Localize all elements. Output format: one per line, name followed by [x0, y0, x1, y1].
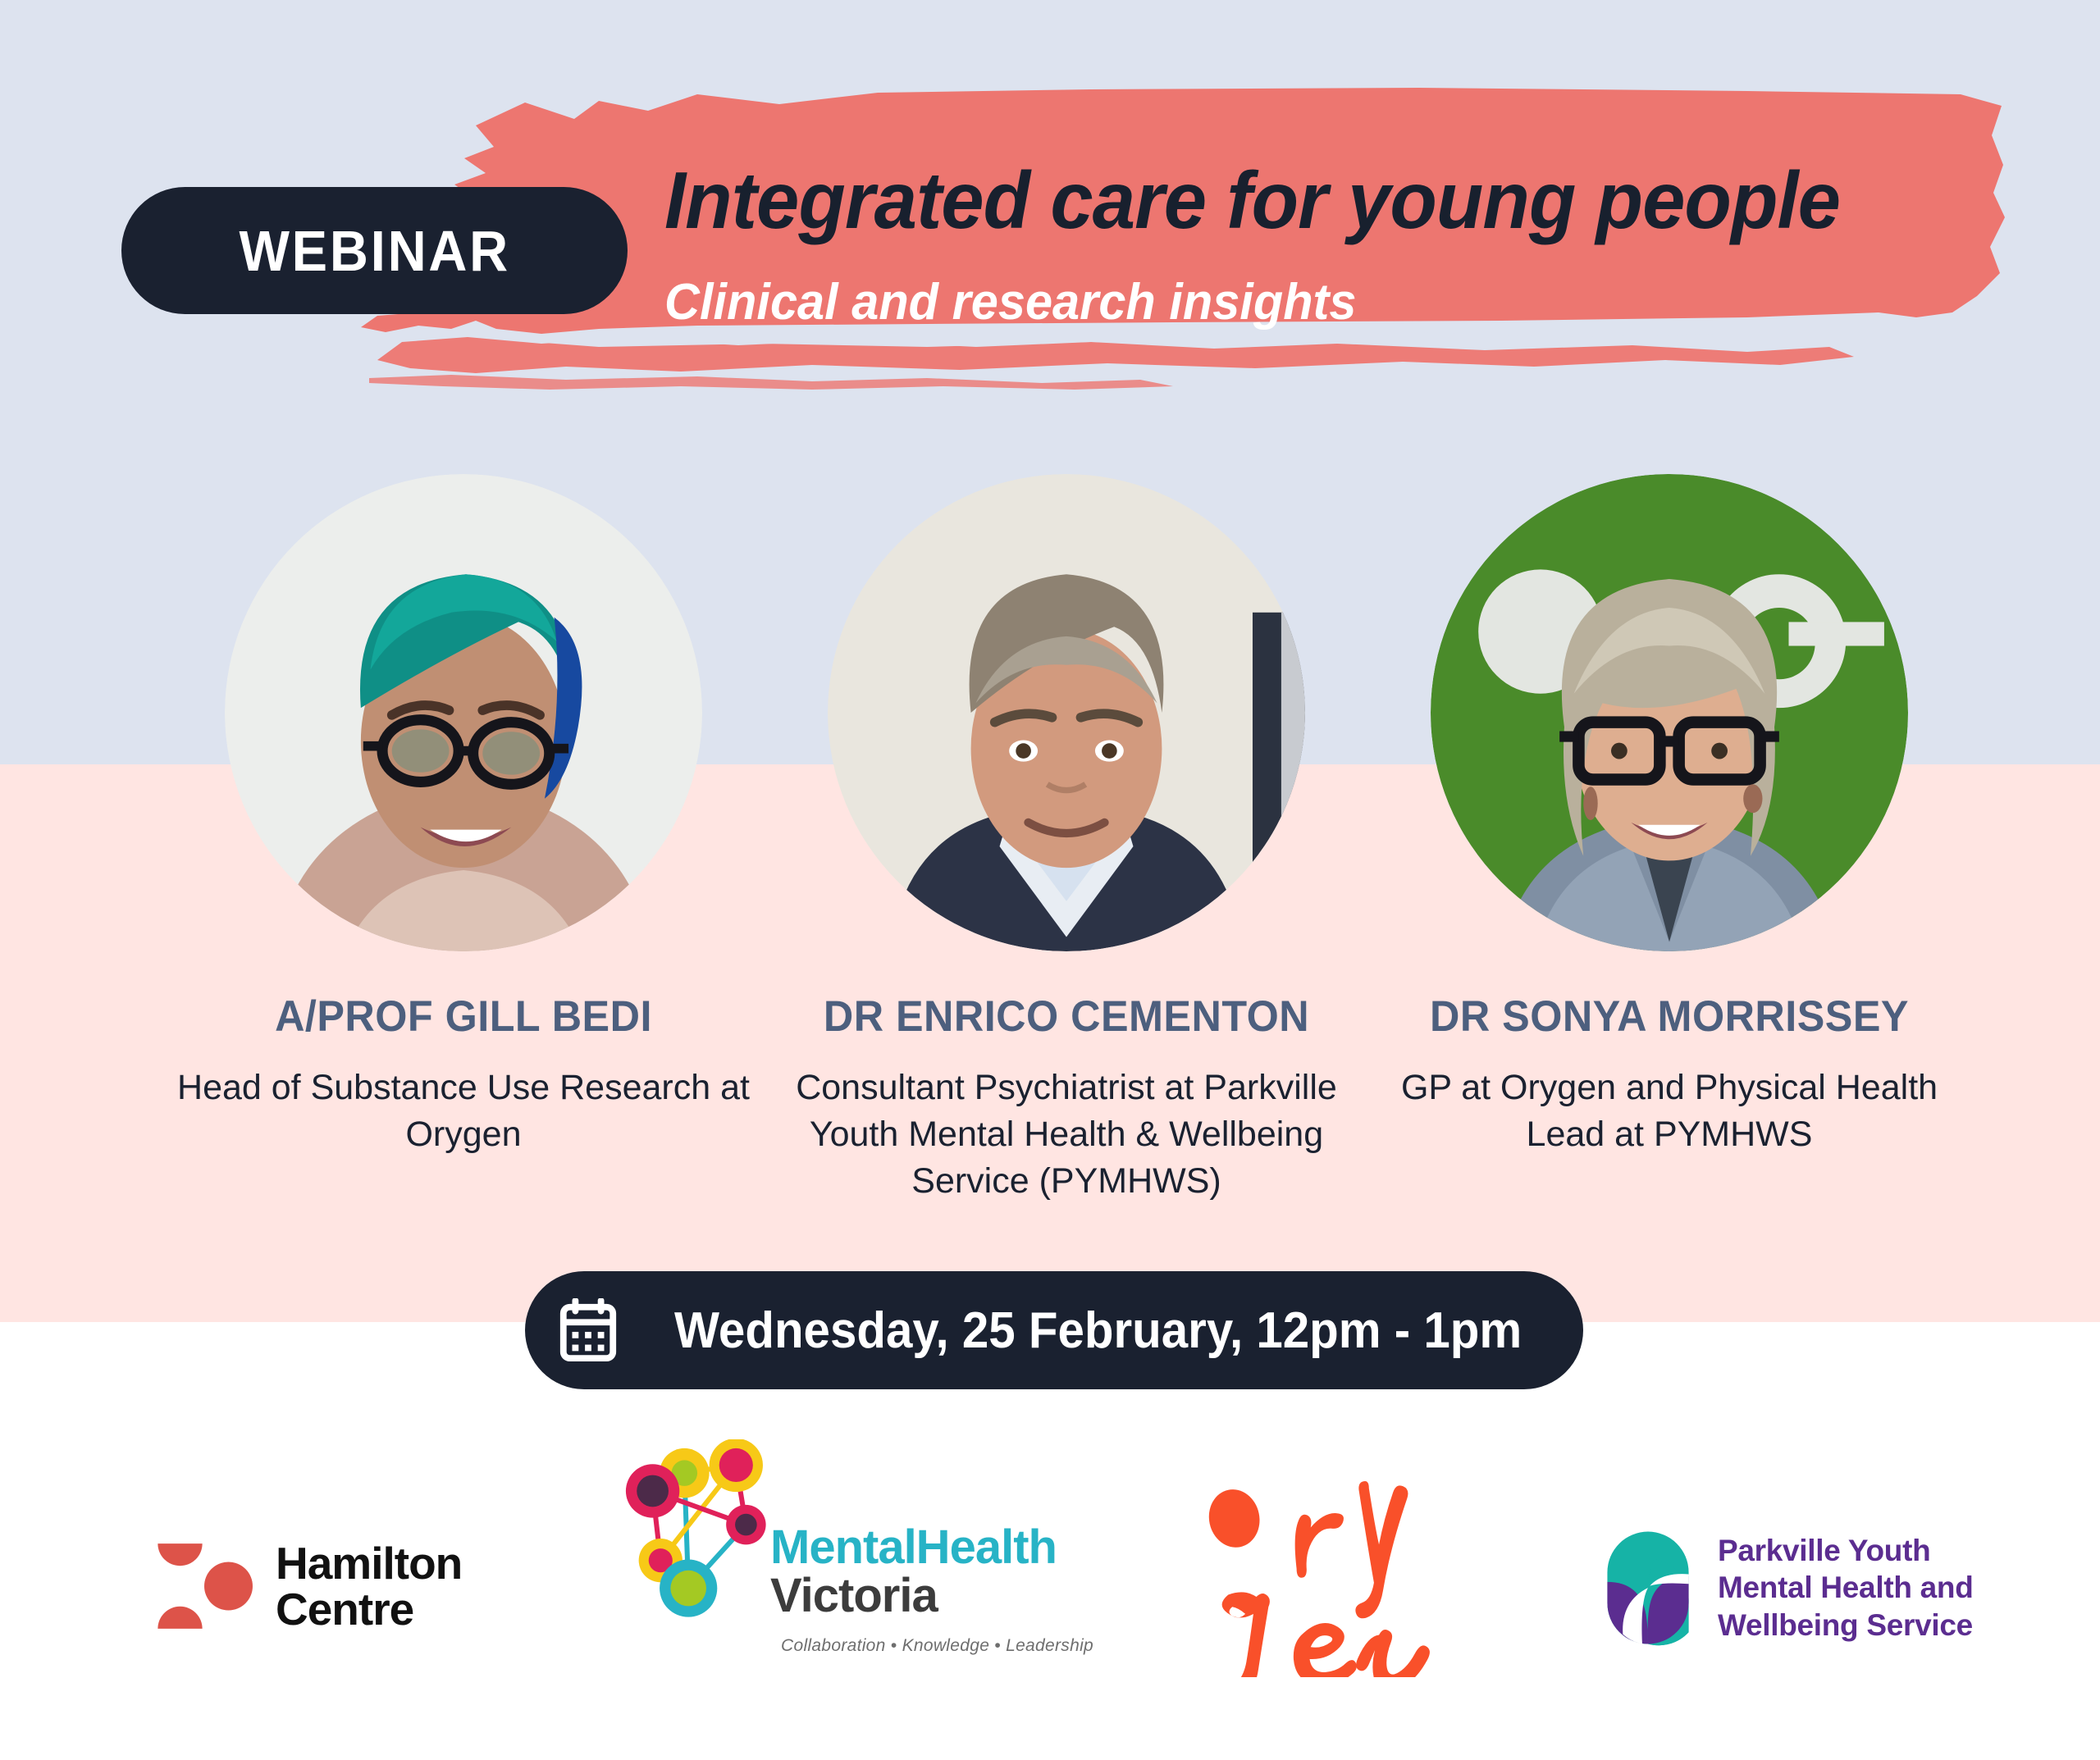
pymhws-leaf-mark — [1600, 1530, 1696, 1646]
logo-orygen — [1198, 1476, 1444, 1677]
pymhws-line3: Wellbeing Service — [1718, 1607, 1974, 1644]
calendar-icon — [559, 1298, 618, 1362]
logo-pymhws: Parkville Youth Mental Health and Wellbe… — [1600, 1530, 1974, 1646]
logo-mental-health-victoria: MentalHealth Victoria Collaboration • Kn… — [623, 1439, 1093, 1656]
event-datetime-label: Wednesday, 25 February, 12pm - 1pm — [674, 1302, 1522, 1360]
speaker-card: A/PROF GILL BEDI Head of Substance Use R… — [152, 474, 775, 1158]
partner-logos-row: Hamilton Centre — [0, 1443, 2100, 1722]
event-datetime-badge: Wednesday, 25 February, 12pm - 1pm — [525, 1271, 1583, 1389]
speaker-name: DR SONYA MORRISSEY — [1373, 992, 1965, 1042]
speaker-card: DR SONYA MORRISSEY GP at Orygen and Phys… — [1358, 474, 1981, 1158]
avatar — [225, 474, 702, 951]
hamilton-centre-mark — [156, 1538, 253, 1635]
mhv-network-mark — [623, 1439, 775, 1628]
webinar-badge-label: WEBINAR — [239, 218, 510, 284]
pymhws-line2: Mental Health and — [1718, 1569, 1974, 1606]
speaker-name: DR ENRICO CEMENTON — [770, 992, 1363, 1042]
speaker-card: DR ENRICO CEMENTON Consultant Psychiatri… — [755, 474, 1378, 1206]
headline-block: Integrated care for young people Clinica… — [664, 160, 1944, 331]
mhv-line1: MentalHealth — [770, 1524, 1057, 1571]
webinar-badge: WEBINAR — [121, 187, 628, 314]
mhv-line2: Victoria — [770, 1571, 1057, 1621]
speaker-bio: GP at Orygen and Physical Health Lead at… — [1358, 1065, 1981, 1158]
mhv-wordmark: MentalHealth Victoria — [770, 1524, 1057, 1628]
mhv-tagline: Collaboration • Knowledge • Leadership — [781, 1636, 1093, 1656]
hamilton-line2: Centre — [276, 1586, 462, 1632]
pymhws-line1: Parkville Youth — [1718, 1532, 1974, 1569]
speaker-bio: Head of Substance Use Research at Orygen — [152, 1065, 775, 1158]
logo-hamilton-centre: Hamilton Centre — [156, 1538, 462, 1635]
avatar — [828, 474, 1305, 951]
hamilton-centre-wordmark: Hamilton Centre — [276, 1540, 462, 1632]
orygen-wordmark — [1198, 1476, 1444, 1677]
speaker-name: A/PROF GILL BEDI — [167, 992, 760, 1042]
hamilton-line1: Hamilton — [276, 1540, 462, 1586]
page-subtitle: Clinical and research insights — [664, 273, 1893, 331]
page-title: Integrated care for young people — [664, 160, 1893, 240]
speaker-bio: Consultant Psychiatrist at Parkville You… — [755, 1065, 1378, 1206]
avatar — [1431, 474, 1908, 951]
pymhws-wordmark: Parkville Youth Mental Health and Wellbe… — [1718, 1532, 1974, 1643]
